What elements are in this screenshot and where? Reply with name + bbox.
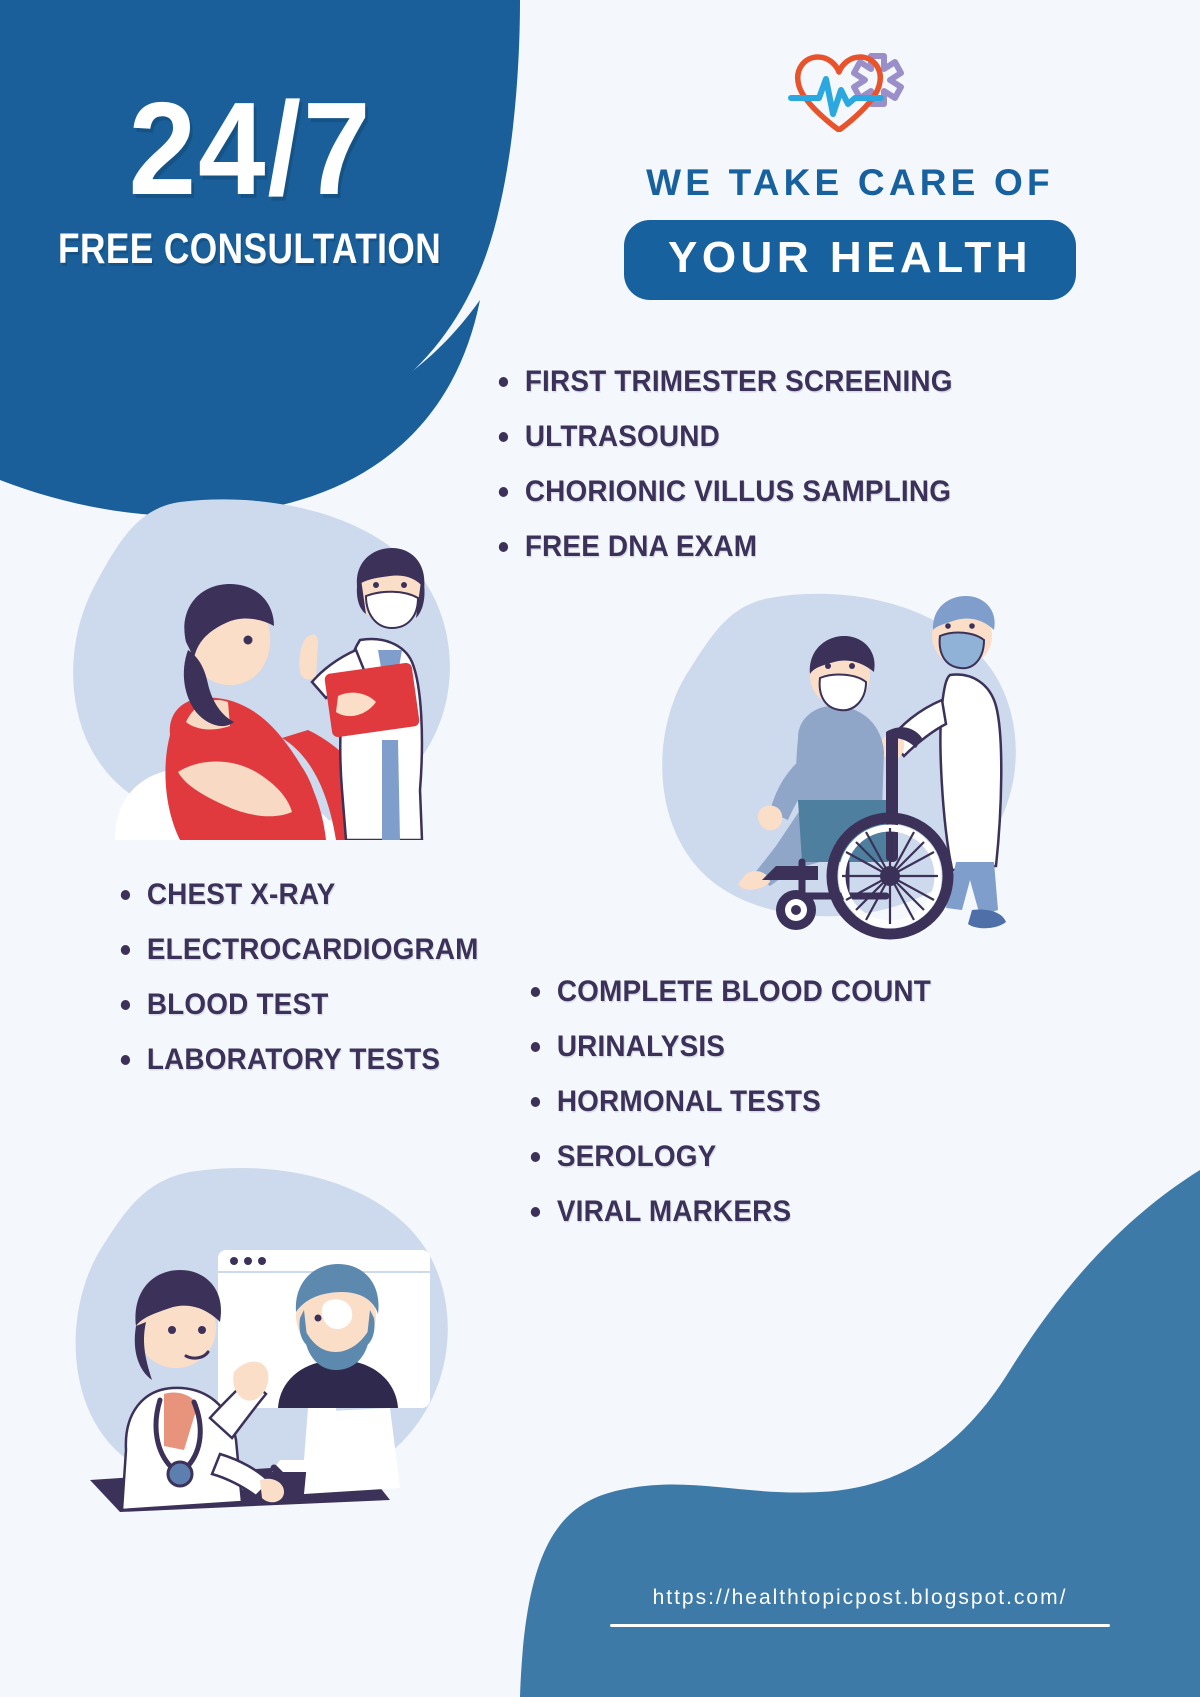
header-title: WE TAKE CARE OF bbox=[646, 162, 1054, 204]
wheelchair-patient-illustration bbox=[650, 580, 1030, 940]
hero-section: 24/7 FREE CONSULTATION bbox=[0, 0, 500, 360]
list-item: CHEST X-RAY bbox=[118, 878, 479, 912]
header-section: WE TAKE CARE OF YOUR HEALTH bbox=[560, 46, 1140, 300]
diagnostic-services-list: CHEST X-RAY ELECTROCARDIOGRAM BLOOD TEST… bbox=[118, 878, 506, 1098]
list-item: CHORIONIC VILLUS SAMPLING bbox=[496, 475, 953, 509]
list-item: BLOOD TEST bbox=[118, 988, 479, 1022]
footer-divider bbox=[610, 1624, 1110, 1627]
blog-url[interactable]: https://healthtopicpost.blogspot.com/ bbox=[600, 1586, 1120, 1610]
hero-subhead: FREE CONSULTATION bbox=[58, 225, 441, 274]
footer-url-block: https://healthtopicpost.blogspot.com/ bbox=[600, 1586, 1120, 1627]
your-health-label: YOUR HEALTH bbox=[668, 233, 1032, 282]
list-item: VIRAL MARKERS bbox=[528, 1195, 931, 1229]
list-item: COMPLETE BLOOD COUNT bbox=[528, 975, 931, 1009]
list-item: ULTRASOUND bbox=[496, 420, 953, 454]
prenatal-consultation-illustration bbox=[60, 490, 470, 840]
list-item: FREE DNA EXAM bbox=[496, 530, 953, 564]
list-item: FIRST TRIMESTER SCREENING bbox=[496, 365, 953, 399]
list-item: HORMONAL TESTS bbox=[528, 1085, 931, 1119]
list-item: SEROLOGY bbox=[528, 1140, 931, 1174]
heart-pulse-star-of-life-icon bbox=[785, 46, 915, 132]
list-item: ELECTROCARDIOGRAM bbox=[118, 933, 479, 967]
prenatal-screening-list: FIRST TRIMESTER SCREENING ULTRASOUND CHO… bbox=[496, 365, 987, 585]
list-item: LABORATORY TESTS bbox=[118, 1043, 479, 1077]
telemedicine-illustration bbox=[60, 1150, 460, 1520]
your-health-pill: YOUR HEALTH bbox=[624, 220, 1076, 300]
laboratory-services-list: COMPLETE BLOOD COUNT URINALYSIS HORMONAL… bbox=[528, 975, 961, 1250]
hero-headline: 24/7 bbox=[128, 86, 372, 211]
list-item: URINALYSIS bbox=[528, 1030, 931, 1064]
